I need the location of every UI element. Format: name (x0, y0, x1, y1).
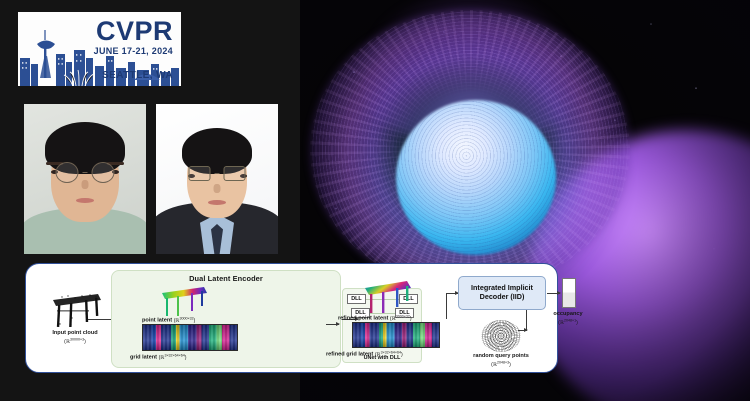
glasses-lens-left (189, 166, 211, 181)
glasses-lens-left (56, 162, 79, 183)
portrait-mouth (208, 200, 226, 205)
input-point-cloud-label: Input point cloud (52, 330, 97, 336)
point-latent-dim: (ℝ3000×32) (174, 318, 196, 324)
cvpr-dates: JUNE 17-21, 2024 (94, 46, 173, 56)
refined-point-latent-label: refined point latent (338, 316, 388, 322)
glasses-lens-right (92, 162, 115, 183)
portrait-left (24, 104, 146, 254)
random-query-points-thumbnail (481, 320, 521, 352)
refined-grid-latent-feature-map (352, 322, 440, 348)
table-point-cloud-icon (48, 286, 104, 330)
refined-point-latent-dim: (ℝ3000×32) (390, 316, 412, 322)
iid-line2: Decoder (IID) (480, 292, 525, 301)
input-point-cloud-thumbnail (48, 286, 104, 330)
occupancy-output-swatch (562, 278, 576, 308)
arrow-refined-to-decoder (446, 293, 458, 294)
random-query-points-dim: (ℝ2048×3) (491, 362, 511, 368)
arrow-refined-to-decoder-elbow (446, 293, 456, 319)
point-latent-label: point latent (142, 318, 172, 324)
poster-canvas: CVPR JUNE 17-21, 2024 SEATTLE, WA (0, 0, 750, 401)
grid-latent-label: grid latent (130, 355, 157, 361)
occupancy-label: occupancy (553, 311, 582, 317)
arrow-query-points-to-decoder (518, 330, 527, 331)
glasses-icon (189, 166, 246, 181)
glasses-bridge (215, 173, 220, 175)
portrait-nose (214, 184, 221, 193)
arrow-decoder-to-occupancy (547, 293, 560, 294)
input-point-cloud-caption: Input point cloud (ℝ30000×3) (32, 330, 118, 346)
grid-latent-caption: grid latent (ℝ3×32×64×64) (130, 353, 250, 362)
refined-grid-latent-label: refined grid latent (326, 352, 373, 358)
occupancy-caption: occupancy (ℝ2048×1) (528, 311, 608, 327)
random-query-points-label: random query points (473, 353, 529, 359)
cvpr-logo: CVPR JUNE 17-21, 2024 SEATTLE, WA (18, 12, 181, 86)
integrated-implicit-decoder-block: Integrated Implicit Decoder (IID) (458, 276, 546, 310)
cvpr-wordmark: CVPR (96, 18, 173, 45)
occupancy-dim: (ℝ2048×1) (558, 320, 578, 326)
refined-colored-table-point-cloud-icon (362, 276, 416, 314)
portrait-nose (82, 180, 89, 189)
random-query-points-caption: random query points (ℝ2048×3) (450, 353, 552, 369)
refined-grid-latent-dim: (ℝ3×32×64×64) (375, 352, 403, 358)
dual-latent-encoder-title: Dual Latent Encoder (112, 274, 340, 283)
glasses-bridge (83, 172, 88, 174)
grid-latent-feature-map (142, 324, 238, 351)
grid-latent-dim: (ℝ3×32×64×64) (159, 355, 187, 361)
input-point-cloud-dim: (ℝ30000×3) (64, 339, 86, 345)
iid-line1: Integrated Implicit (471, 283, 533, 292)
refined-point-latent-thumbnail (362, 276, 416, 319)
refined-grid-latent-caption: refined grid latent (ℝ3×32×64×64) (326, 350, 462, 359)
colored-table-point-cloud-icon (158, 282, 212, 318)
method-pipeline-panel: Input point cloud (ℝ30000×3) Point Encod… (25, 263, 558, 373)
portrait-mouth (76, 198, 94, 203)
portrait-right (156, 104, 278, 254)
cvpr-location: SEATTLE, WA (102, 70, 173, 81)
arrow-latents-to-unet (326, 324, 339, 325)
glasses-lens-right (224, 166, 246, 181)
dual-latent-encoder-group: Dual Latent Encoder (111, 270, 341, 368)
